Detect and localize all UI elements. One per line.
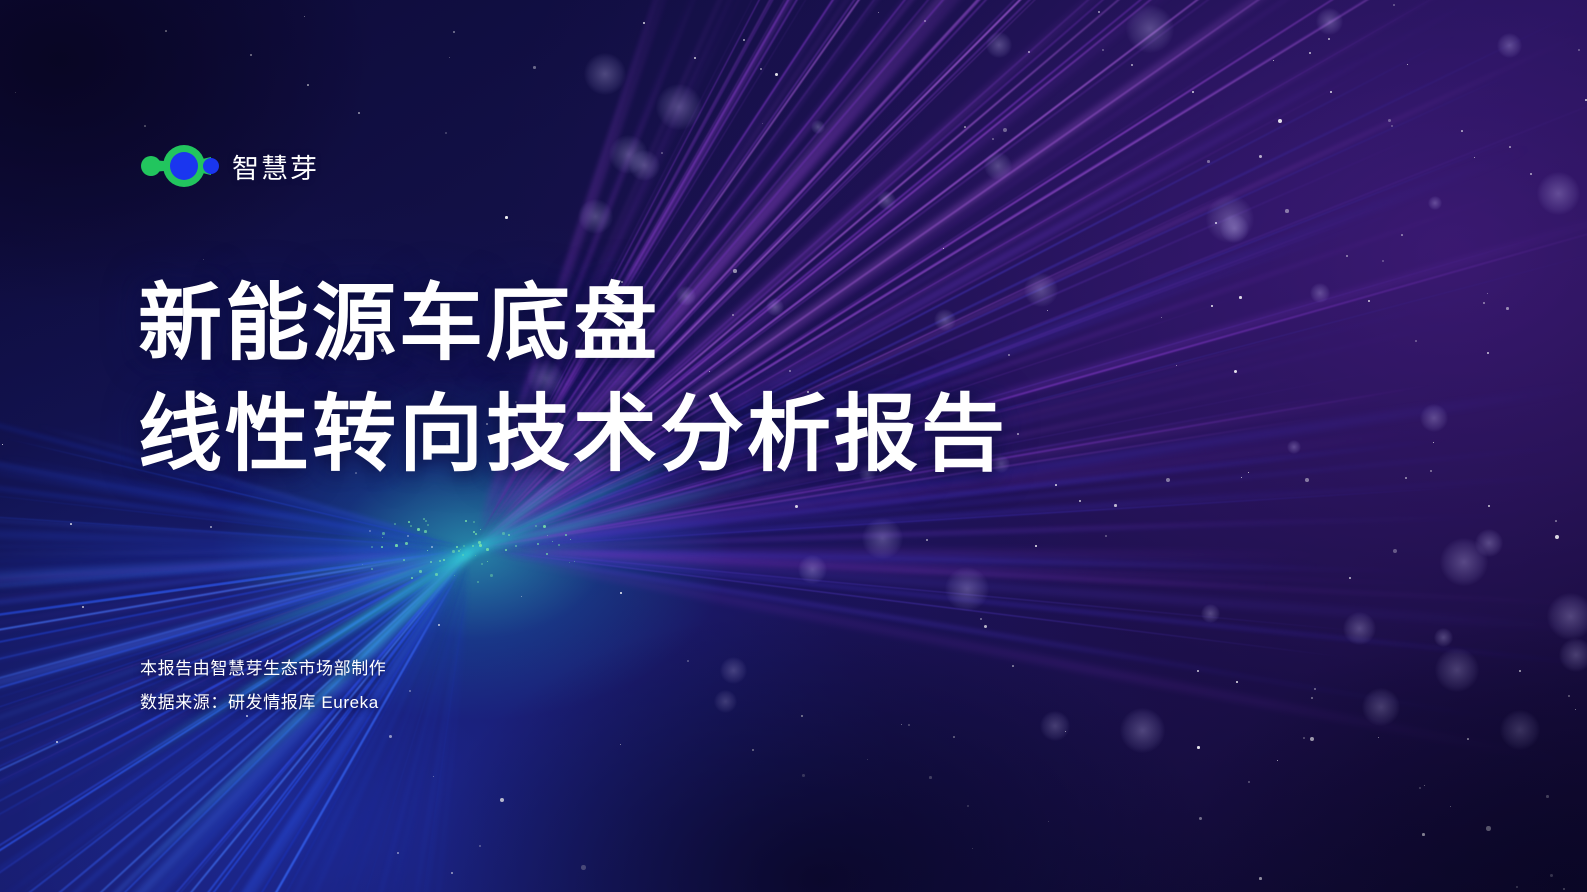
brand-logo: 智慧芽 — [140, 143, 319, 189]
title-line-2: 线性转向技术分析报告 — [138, 379, 1008, 490]
report-footer: 本报告由智慧芽生态市场部制作 数据来源：研发情报库 Eureka — [140, 652, 386, 720]
footer-producer-line: 本报告由智慧芽生态市场部制作 — [140, 652, 386, 686]
report-cover-slide: 智慧芽 新能源车底盘 线性转向技术分析报告 本报告由智慧芽生态市场部制作 数据来… — [0, 0, 1587, 892]
footer-datasource-line: 数据来源：研发情报库 Eureka — [140, 686, 386, 720]
report-title: 新能源车底盘 线性转向技术分析报告 — [138, 268, 1008, 490]
molecule-node-logo-icon — [140, 143, 220, 189]
brand-name-label: 智慧芽 — [232, 147, 319, 186]
title-line-1: 新能源车底盘 — [138, 268, 1008, 379]
